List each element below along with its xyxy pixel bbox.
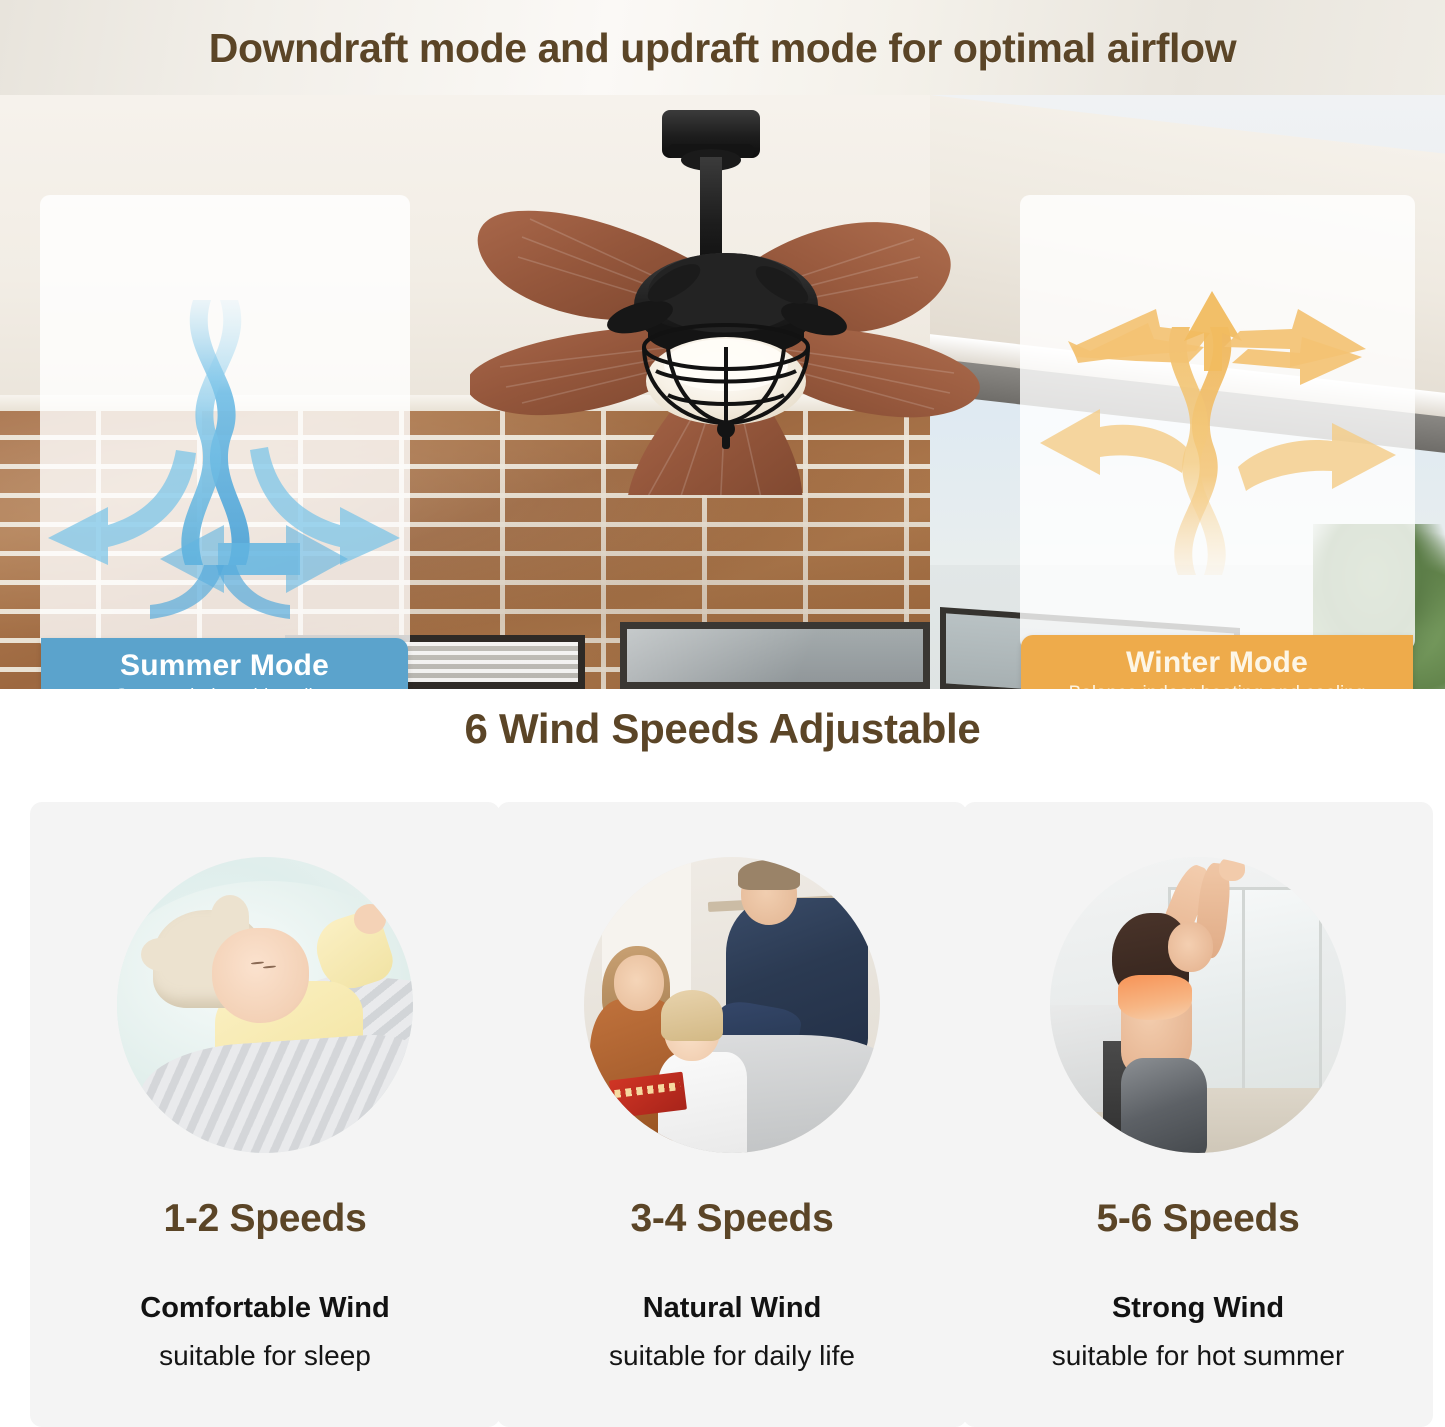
wind-name-label: Natural Wind: [497, 1292, 967, 1325]
hero-image: Summer Mode Strong wind, rapid cooling W…: [0, 95, 1445, 689]
product-feature-page: Downdraft mode and updraft mode for opti…: [0, 0, 1445, 1427]
wind-description-label: suitable for daily life: [497, 1340, 967, 1372]
ceiling-fan: [470, 95, 990, 495]
section-title: 6 Wind Speeds Adjustable: [0, 705, 1445, 753]
summer-mode-subtitle: Strong wind, rapid cooling: [41, 684, 408, 689]
wind-name-label: Comfortable Wind: [30, 1292, 500, 1325]
winter-mode-subtitle: Balance indoor heating and cooling: [1021, 681, 1413, 689]
window-glass: [620, 622, 930, 689]
winter-overlay-panel: [1020, 195, 1415, 650]
wind-name-label: Strong Wind: [963, 1292, 1433, 1325]
summer-mode-title: Summer Mode: [41, 650, 408, 682]
speed-range-label: 3-4 Speeds: [497, 1197, 967, 1241]
speed-cards-row: 1-2 Speeds Comfortable Wind suitable for…: [0, 802, 1445, 1427]
speed-card: 3-4 Speeds Natural Wind suitable for dai…: [497, 802, 967, 1427]
headline-band: Downdraft mode and updraft mode for opti…: [0, 0, 1445, 96]
wind-description-label: suitable for hot summer: [963, 1340, 1433, 1372]
speed-card: 1-2 Speeds Comfortable Wind suitable for…: [30, 802, 500, 1427]
page-title: Downdraft mode and updraft mode for opti…: [209, 25, 1236, 72]
fan-downrod-and-canopy: [662, 110, 760, 277]
summer-mode-badge: Summer Mode Strong wind, rapid cooling: [41, 638, 408, 689]
winter-mode-badge: Winter Mode Balance indoor heating and c…: [1021, 635, 1413, 689]
speed-range-label: 1-2 Speeds: [30, 1197, 500, 1241]
speed-card: 5-6 Speeds Strong Wind suitable for hot …: [963, 802, 1433, 1427]
woman-stretching-photo: [1050, 857, 1346, 1153]
speed-range-label: 5-6 Speeds: [963, 1197, 1433, 1241]
summer-overlay-panel: [40, 195, 410, 650]
winter-mode-title: Winter Mode: [1021, 647, 1413, 679]
sleeping-baby-photo: [117, 857, 413, 1153]
family-reading-photo: [584, 857, 880, 1153]
wind-description-label: suitable for sleep: [30, 1340, 500, 1372]
